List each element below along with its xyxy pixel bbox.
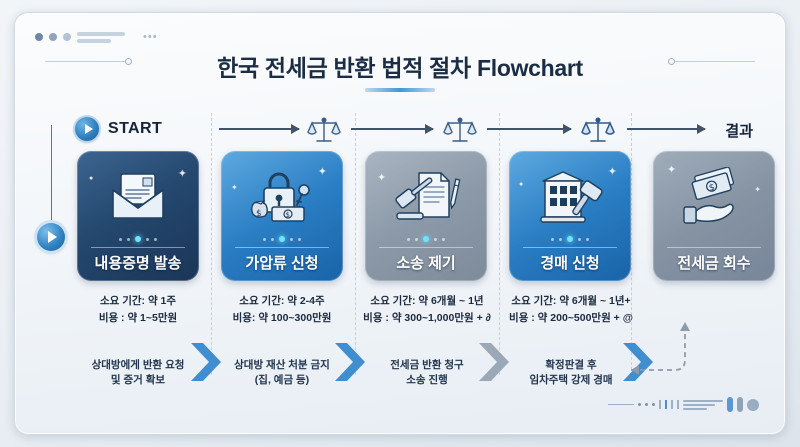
card-led-strip: [365, 236, 487, 242]
timeline-result-label: 결과: [725, 120, 753, 141]
step-duration-1: 소요 기간: 약 1주: [63, 293, 213, 310]
play-circle-icon: [75, 117, 99, 141]
column-separator-1: [211, 113, 212, 375]
result-label: 전세금 회수: [653, 252, 775, 273]
window-menu-ellipsis[interactable]: •••: [143, 31, 158, 43]
step-caption-2-line1: 상대방 재산 처분 금지: [207, 358, 357, 373]
step-card-2[interactable]: $ $ ✦ ✦ 가압류 신청: [221, 151, 343, 281]
page-title-block: 한국 전세금 반환 법적 절차 Flowchart: [15, 49, 785, 92]
step-cost-1: 비용 : 약 1~5만원: [63, 310, 213, 327]
step-caption-1-line1: 상대방에게 반환 요청: [63, 358, 213, 373]
window-chrome: •••: [35, 31, 158, 43]
card-divider: [523, 247, 617, 248]
column-separator-2: [355, 113, 356, 375]
scales-of-justice-icon: [307, 116, 341, 146]
step-duration-3: 소요 기간: 약 6개월 ~ 1년: [351, 293, 503, 310]
svg-text:$: $: [286, 211, 290, 219]
page-title: 한국 전세금 반환 법적 절차 Flowchart: [217, 49, 583, 83]
footer-decoration: [608, 397, 759, 412]
result-card[interactable]: $ ✦ ✦ 전세금 회수: [653, 151, 775, 281]
step-caption-3-line2: 소송 진행: [351, 373, 503, 388]
timeline-arrow-3: [487, 128, 571, 130]
step-meta-1: 소요 기간: 약 1주 비용 : 약 1~5만원: [63, 293, 213, 327]
card-divider: [667, 247, 761, 248]
step-cost-3: 비용 : 약 300~1,000만원 + ∂: [351, 310, 503, 327]
column-separator-3: [499, 113, 500, 375]
step-card-1[interactable]: ✦ ● 내용증명 발송: [77, 151, 199, 281]
window-frame: ••• 한국 전세금 반환 법적 절차 Flowchart START: [14, 12, 786, 435]
scales-of-justice-icon: [581, 116, 615, 146]
window-placeholder-bars: [77, 31, 127, 43]
scales-of-justice-icon: [443, 116, 477, 146]
timeline-arrow-1: [219, 128, 299, 130]
step-card-3[interactable]: ✦ 소송 제기: [365, 151, 487, 281]
title-underline: [365, 88, 435, 92]
card-divider: [235, 247, 329, 248]
timeline-arrow-2: [351, 128, 433, 130]
step-caption-3-line1: 전세금 반환 청구: [351, 358, 503, 373]
window-dot-3: [63, 33, 71, 41]
step-cost-2: 비용: 약 100~300만원: [207, 310, 357, 327]
window-dot-1: [35, 33, 43, 41]
step-caption-2-line2: (집, 예금 등): [207, 373, 357, 388]
step-caption-1-line2: 및 증거 확보: [63, 373, 213, 388]
window-dot-2: [49, 33, 57, 41]
step-label-4: 경매 신청: [509, 252, 631, 273]
step-label-3: 소송 제기: [365, 252, 487, 273]
svg-text:$: $: [256, 209, 262, 219]
step-meta-3: 소요 기간: 약 6개월 ~ 1년 비용 : 약 300~1,000만원 + ∂: [351, 293, 503, 327]
step-label-2: 가압류 신청: [221, 252, 343, 273]
timeline-start[interactable]: START: [75, 117, 162, 141]
step-meta-2: 소요 기간: 약 2-4주 비용: 약 100~300만원: [207, 293, 357, 327]
infographic-canvas: ••• 한국 전세금 반환 법적 절차 Flowchart START: [0, 0, 800, 447]
card-led-strip: [509, 236, 631, 242]
card-divider: [91, 247, 185, 248]
step-card-4[interactable]: ✦ ● 경매 신청: [509, 151, 631, 281]
step-caption-2: 상대방 재산 처분 금지 (집, 예금 등): [207, 358, 357, 388]
start-label: START: [108, 120, 162, 138]
feedback-loop-path: [617, 312, 767, 392]
timeline-row: START: [71, 117, 761, 147]
card-led-strip: [77, 236, 199, 242]
step-duration-2: 소요 기간: 약 2-4주: [207, 293, 357, 310]
step-label-1: 내용증명 발송: [77, 252, 199, 273]
step-duration-4: 소요 기간: 약 6개월 ~ 1년+: [495, 293, 647, 310]
card-led-strip: [221, 236, 343, 242]
step-caption-3: 전세금 반환 청구 소송 진행: [351, 358, 503, 388]
gavel-document-pen-icon: [365, 157, 487, 235]
rail-play-icon[interactable]: [37, 223, 65, 251]
card-divider: [379, 247, 473, 248]
step-caption-1: 상대방에게 반환 요청 및 증거 확보: [63, 358, 213, 388]
timeline-arrow-4: [627, 128, 705, 130]
